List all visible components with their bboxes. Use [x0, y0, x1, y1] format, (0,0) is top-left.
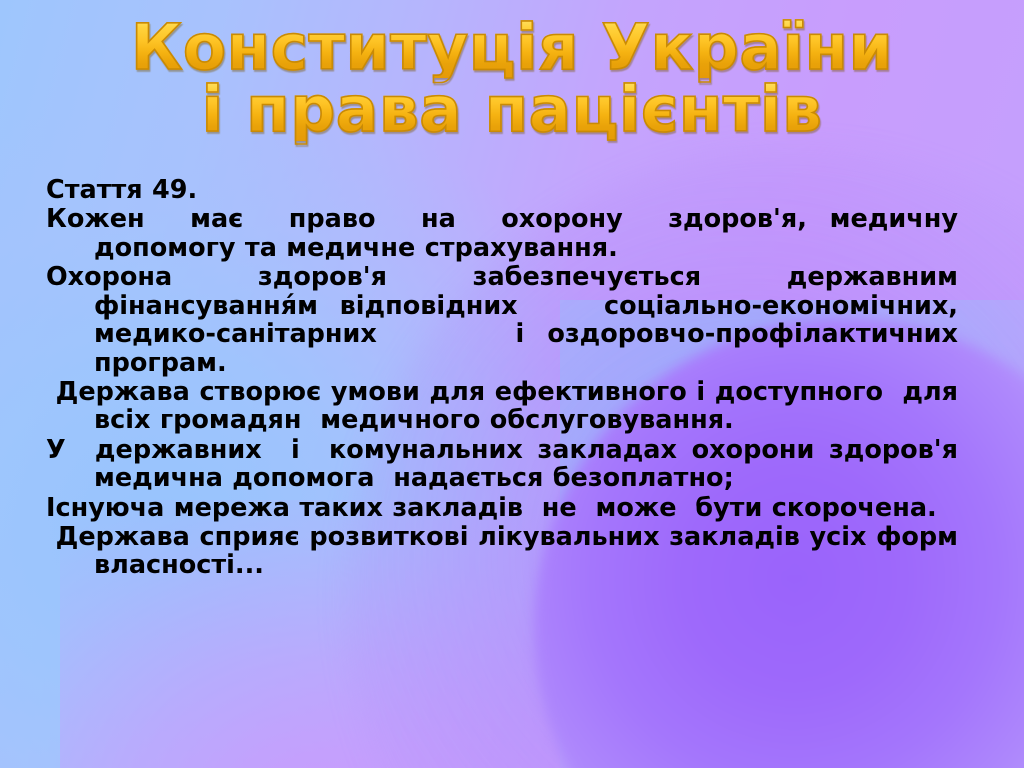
slide-body: Стаття 49. Кожен має право на охорону зд…: [46, 176, 958, 580]
slide-title-line-1: Конституція України: [0, 18, 1024, 78]
presentation-slide: Конституція України і права пацієнтів Ст…: [0, 0, 1024, 768]
para-free-care: У державних і комунальних закладах охоро…: [46, 436, 958, 493]
slide-title-line-2: і права пацієнтів: [0, 80, 1024, 140]
para-network: Існуюча мережа таких закладів не може бу…: [46, 494, 958, 522]
slide-title: Конституція України і права пацієнтів: [0, 18, 1024, 141]
article-heading: Стаття 49.: [46, 176, 958, 204]
para-effective-access: Держава створює умови для ефективного і …: [46, 378, 958, 435]
para-right-to-health: Кожен має право на охорону здоров'я, мед…: [46, 205, 958, 262]
slide-content: Конституція України і права пацієнтів Ст…: [0, 0, 1024, 768]
para-state-financing: Охорона здоров'я забезпечується державни…: [46, 263, 958, 377]
para-all-forms: Держава сприяє розвиткові лікувальних за…: [46, 523, 958, 580]
